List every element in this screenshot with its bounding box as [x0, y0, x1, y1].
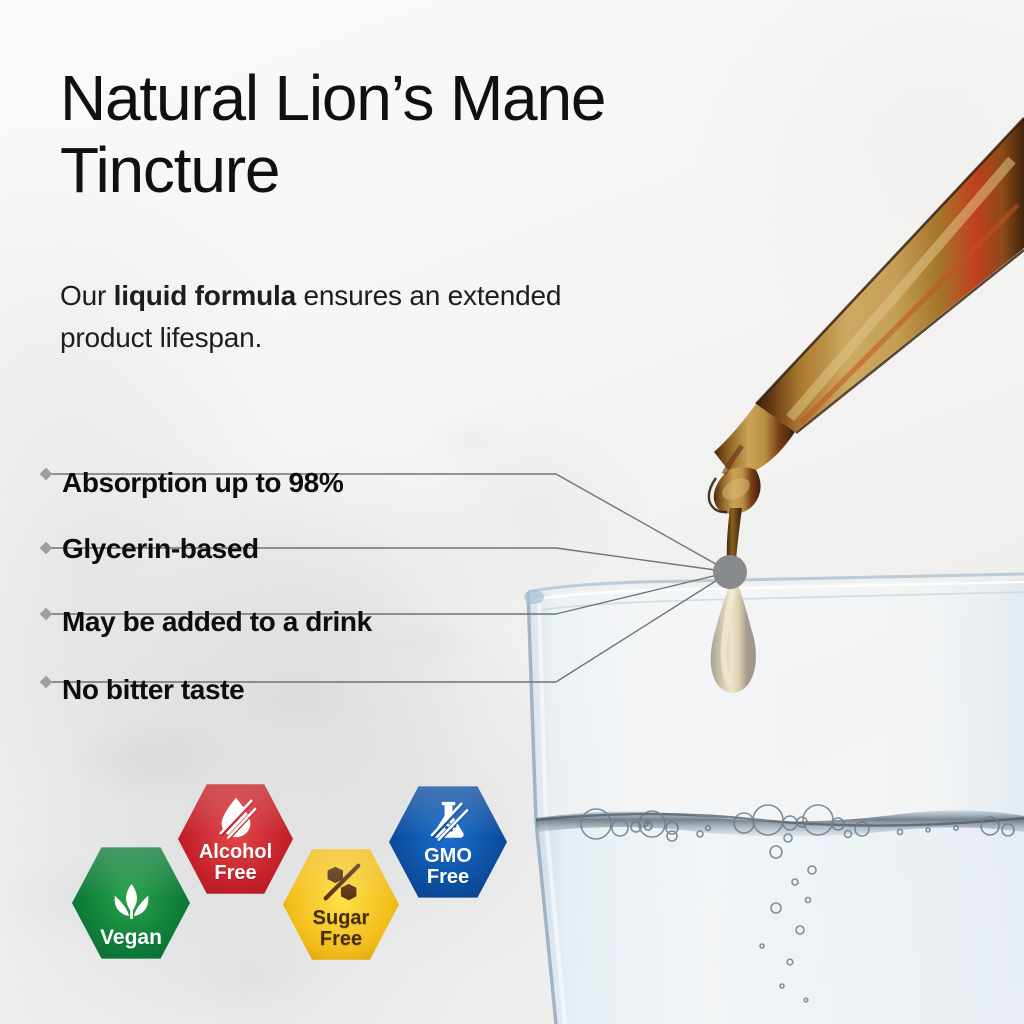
droplet-slash-icon	[213, 794, 259, 840]
flask-slash-icon	[425, 797, 472, 844]
subheadline-emphasis: liquid formula	[114, 280, 296, 311]
sugar-cubes-slash-icon	[318, 860, 364, 906]
subheadline: Our liquid formula ensures an extended p…	[60, 275, 620, 359]
badge-label: Vegan	[100, 927, 162, 948]
droplet-slash-icon	[213, 794, 259, 840]
leaf-icon	[108, 878, 155, 925]
callout-leader-2	[556, 548, 730, 572]
flask-slash-icon	[425, 797, 472, 844]
callout-leader-1	[556, 474, 730, 572]
callout-leader-4	[556, 572, 730, 682]
callout-leader-3	[556, 572, 730, 614]
feature-item-2: Glycerin-based	[62, 533, 259, 565]
sugar-cubes-slash-icon	[318, 860, 364, 906]
feature-item-1: Absorption up to 98%	[62, 467, 343, 499]
page-title: Natural Lion’s Mane Tincture	[60, 62, 820, 207]
leaf-icon	[108, 878, 155, 925]
feature-item-4: No bitter taste	[62, 674, 244, 706]
feature-item-3: May be added to a drink	[62, 606, 372, 638]
callout-marker-1	[40, 468, 53, 481]
callout-marker-3	[40, 608, 53, 621]
badge-label: Alcohol Free	[199, 842, 272, 883]
subheadline-pre: Our	[60, 280, 114, 311]
callout-marker-4	[40, 676, 53, 689]
infographic-canvas: Natural Lion’s Mane Tincture Our liquid …	[0, 0, 1024, 1024]
callout-marker-2	[40, 542, 53, 555]
callout-hub-dot	[713, 555, 747, 589]
badge-label: Sugar Free	[313, 908, 370, 949]
badge-label: GMO Free	[424, 846, 472, 887]
